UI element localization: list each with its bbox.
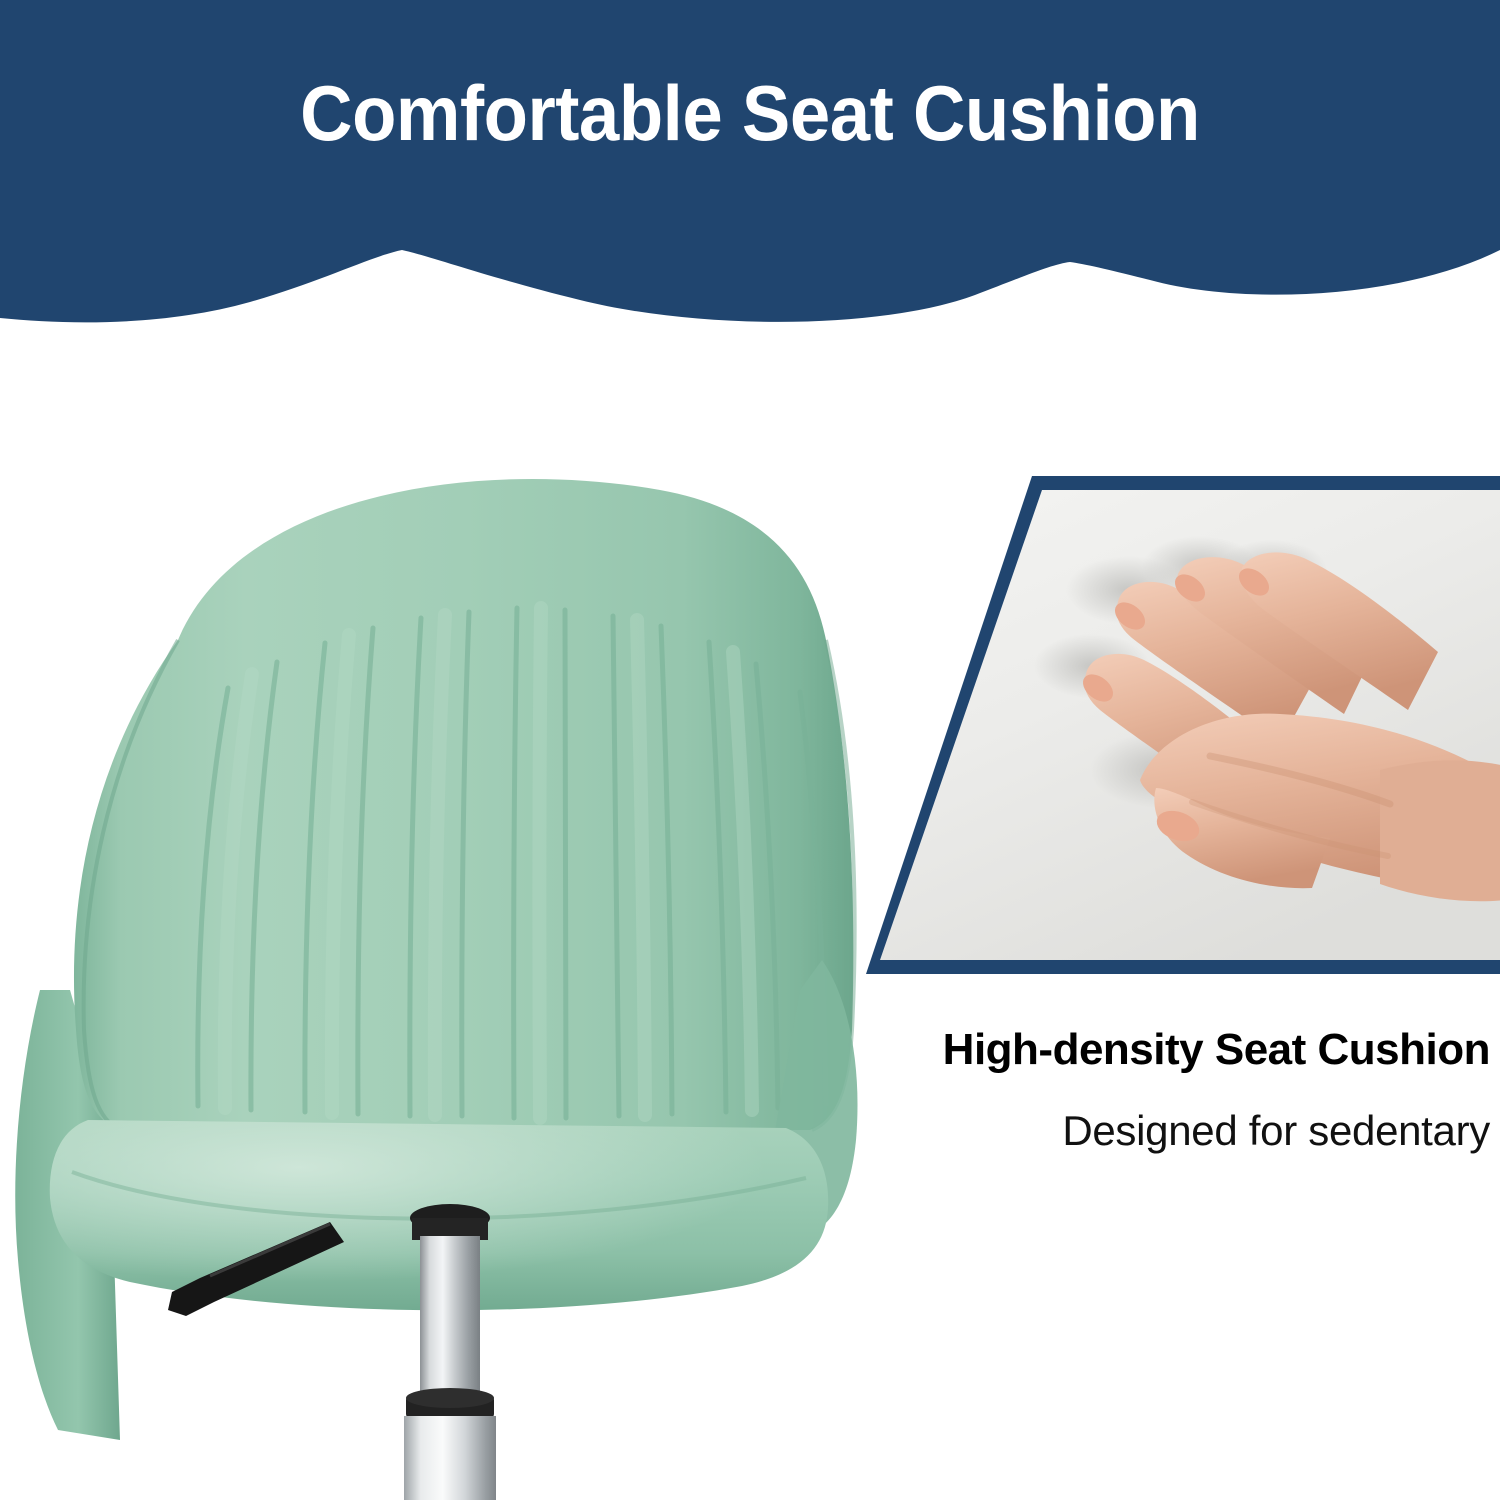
page-title: Comfortable Seat Cushion [53,74,1448,152]
gas-cylinder-lower [404,1416,496,1500]
marketing-image-canvas: Comfortable Seat Cushion [0,0,1500,1500]
chair-product-illustration [0,430,900,1500]
cylinder-mid-cap [406,1388,494,1408]
gas-cylinder-upper [420,1236,480,1404]
foam-inset-illustration [860,470,1500,980]
caption-subtext: Designed for sedentary [830,1108,1490,1153]
caption-heading: High-density Seat Cushion [830,1026,1490,1074]
banner-scallop-shape [0,0,1500,340]
caption-block: High-density Seat Cushion Designed for s… [830,1026,1490,1153]
foam-detail-inset [860,470,1500,980]
header-banner: Comfortable Seat Cushion [0,0,1500,340]
